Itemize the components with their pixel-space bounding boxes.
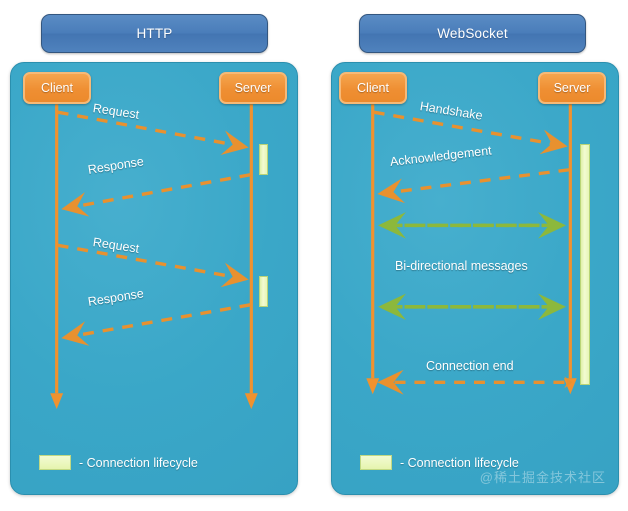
websocket-server-label: Server [554, 81, 591, 95]
websocket-message-label-connection-end: Connection end [426, 359, 514, 373]
http-lifecycle-bar-2 [259, 276, 268, 307]
http-banner-label: HTTP [136, 26, 172, 41]
http-client-lifeline-end-arrow [50, 393, 63, 409]
websocket-banner-label: WebSocket [437, 26, 508, 41]
http-sequence-svg [11, 63, 297, 494]
websocket-sequence-panel: Client Server Handshake Acknowledgement … [331, 62, 619, 495]
http-actor-server: Server [219, 72, 287, 104]
http-title-banner: HTTP [41, 14, 268, 53]
websocket-actor-server: Server [538, 72, 606, 104]
http-legend: - Connection lifecycle [39, 455, 198, 470]
websocket-message-label-bidirectional: Bi-directional messages [395, 259, 528, 273]
http-message-arrow-1 [58, 112, 246, 147]
websocket-message-arrow-acknowledgement [381, 170, 570, 194]
websocket-title-banner: WebSocket [359, 14, 586, 53]
lifecycle-swatch-icon [360, 455, 392, 470]
http-message-arrow-4 [65, 305, 251, 338]
http-actor-client: Client [23, 72, 91, 104]
http-sequence-panel: Client Server Request Response Request R… [10, 62, 298, 495]
http-lifecycle-bar-1 [259, 144, 268, 175]
http-message-arrow-2 [65, 175, 251, 209]
websocket-sequence-svg [332, 63, 618, 494]
websocket-lifecycle-bar [580, 144, 590, 385]
watermark-text: @稀土掘金技术社区 [480, 467, 606, 486]
diagram-canvas: HTTP WebSocket [0, 0, 628, 511]
websocket-client-label: Client [357, 81, 389, 95]
http-message-arrow-3 [58, 245, 246, 279]
websocket-actor-client: Client [339, 72, 407, 104]
http-legend-label: - Connection lifecycle [79, 456, 198, 470]
http-server-label: Server [235, 81, 272, 95]
http-client-label: Client [41, 81, 73, 95]
websocket-client-lifeline-end-arrow [366, 378, 379, 394]
http-server-lifeline-end-arrow [245, 393, 258, 409]
lifecycle-swatch-icon [39, 455, 71, 470]
